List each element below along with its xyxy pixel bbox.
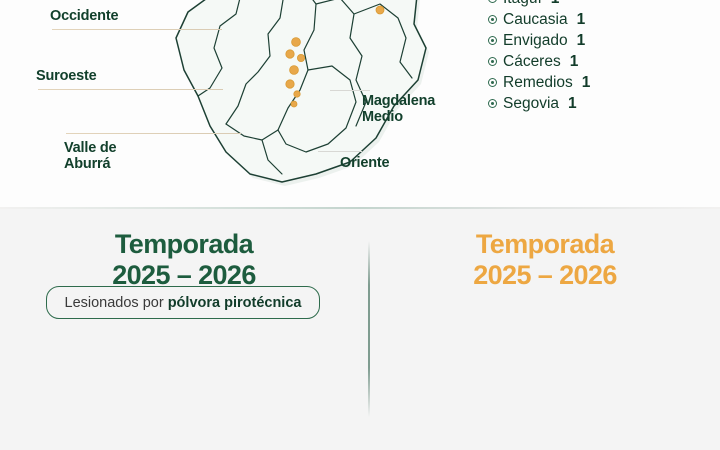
municipality-count: 1 (551, 0, 560, 8)
municipality-count: 1 (577, 32, 586, 50)
municipality-name: Caucasia (503, 11, 568, 29)
map-label-occidente: Occidente (50, 8, 118, 24)
intoxication-panel: Temporada 2025 – 2026 (370, 209, 720, 450)
municipality-name: Itagüí (503, 0, 542, 8)
municipality-row: Envigado1 (488, 30, 720, 51)
map-label-oriente: Oriente (340, 155, 389, 171)
left-season-line1: Temporada (0, 231, 368, 258)
bullet-dot-icon (488, 0, 497, 3)
left-subtitle-strong: pólvora pirotécnica (168, 295, 302, 311)
leader-line-valle-de-aburra (66, 133, 241, 134)
right-season-line1: Temporada (370, 231, 720, 258)
bullet-dot-icon (488, 15, 497, 24)
map-label-valle-de-aburra: Valle de Aburrá (64, 140, 116, 172)
municipality-row: Remedios1 (488, 72, 720, 93)
bullet-dot-icon (488, 78, 497, 87)
municipality-row: Segovia1 (488, 93, 720, 114)
municipality-row: Cáceres1 (488, 51, 720, 72)
bullet-dot-icon (488, 57, 497, 66)
municipality-name: Cáceres (503, 53, 561, 71)
powder-injuries-panel: Temporada 2025 – 2026 Lesionados por pól… (0, 209, 368, 450)
bullet-dot-icon (488, 99, 497, 108)
map-section: Occidente Suroeste Valle de Aburrá Magda… (0, 0, 720, 208)
left-subtitle-prefix: Lesionados por (65, 295, 168, 311)
statistics-section: Temporada 2025 – 2026 Lesionados por pól… (0, 209, 720, 450)
map-label-magdalena-medio: Magdalena Medio (362, 93, 435, 125)
left-season-title: Temporada 2025 – 2026 (0, 231, 368, 289)
leader-line-magdalena-medio (330, 90, 370, 91)
municipality-count: 1 (570, 53, 579, 71)
municipality-row: Itagüí1 (488, 0, 720, 9)
bullet-dot-icon (488, 36, 497, 45)
municipality-name: Segovia (503, 95, 559, 113)
right-season-line2: 2025 – 2026 (370, 262, 720, 289)
municipality-name: Remedios (503, 74, 573, 92)
municipality-count: 1 (568, 95, 577, 113)
municipality-count: 1 (577, 11, 586, 29)
left-subtitle-text: Lesionados por pólvora pirotécnica (65, 295, 302, 311)
leader-line-suroeste (38, 89, 223, 90)
municipality-list: Itagüí1Caucasia1Envigado1Cáceres1Remedio… (488, 0, 720, 138)
municipality-count: 1 (582, 74, 591, 92)
right-season-title: Temporada 2025 – 2026 (370, 231, 720, 289)
leader-line-oriente (318, 151, 362, 152)
left-subtitle-pill: Lesionados por pólvora pirotécnica (46, 286, 320, 319)
map-label-suroeste: Suroeste (36, 68, 96, 84)
municipality-row: Caucasia1 (488, 9, 720, 30)
left-season-line2: 2025 – 2026 (0, 262, 368, 289)
municipality-name: Envigado (503, 32, 568, 50)
leader-line-occidente (52, 29, 222, 30)
